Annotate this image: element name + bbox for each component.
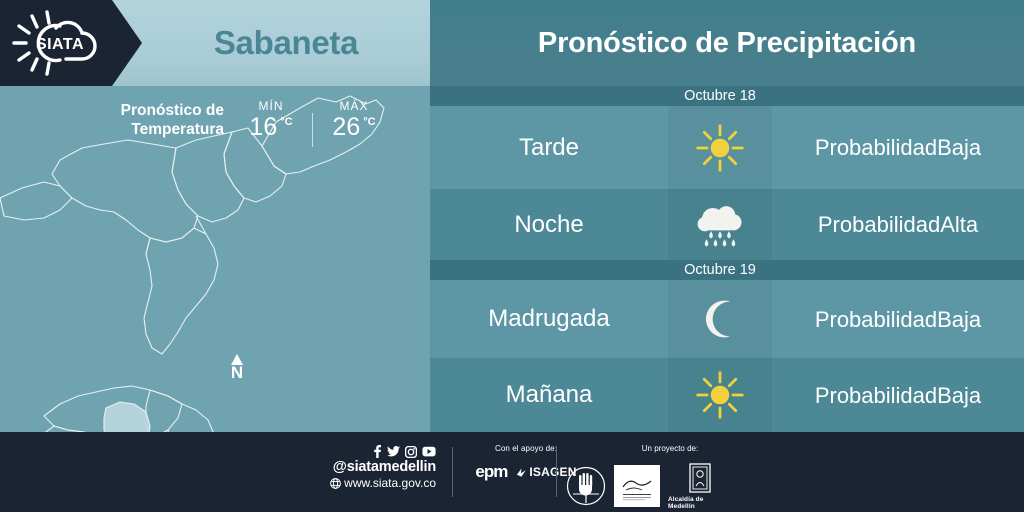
footer-divider-1: [452, 447, 453, 497]
probability-madrugada-line2: Baja: [937, 305, 981, 334]
probability-madrugada: Probabilidad Baja: [772, 280, 1024, 358]
temperature-max: MÁX 26 °C: [317, 99, 391, 141]
svg-text:SIATA: SIATA: [36, 36, 84, 53]
forecast-row-tarde[interactable]: Tarde Probabilid: [430, 106, 1024, 189]
support-caption: Con el apoyo de:: [495, 444, 557, 453]
probability-manana-line2: Baja: [937, 381, 981, 410]
probability-tarde-line1: Probabilidad: [815, 133, 937, 162]
project-logos: Alcaldía de Medellín: [566, 462, 732, 510]
temperature-divider: [312, 113, 313, 147]
support-logos: epm ISAGEN: [475, 462, 576, 482]
instagram-icon[interactable]: [405, 446, 417, 458]
north-arrow-icon: N: [224, 354, 250, 381]
temperature-max-value: 26: [332, 114, 360, 141]
website-row[interactable]: www.siata.gov.co: [330, 476, 436, 491]
sun-cloud-icon: SIATA: [8, 7, 112, 79]
date-header-1: Octubre 18: [430, 86, 1024, 106]
seal-icon: [566, 466, 606, 506]
temperature-min: MÍN 16 °C: [234, 99, 308, 141]
period-label-madrugada: Madrugada: [430, 280, 668, 358]
social-handle[interactable]: @siatamedellin: [333, 459, 436, 476]
date-header-2-label: Octubre 19: [668, 262, 772, 278]
moon-icon: [668, 280, 772, 358]
header: SIATA Sabaneta Pronóstico de Precipitaci…: [0, 0, 1024, 86]
temperature-max-caption: MÁX: [339, 99, 368, 113]
isagen-mark-icon: [516, 467, 527, 478]
period-label-noche: Noche: [430, 189, 668, 260]
temperature-label-line2: Temperatura: [72, 120, 224, 139]
alcaldia-mark-icon: [687, 462, 713, 494]
probability-tarde: Probabilidad Baja: [772, 106, 1024, 189]
social-icons: [371, 445, 436, 458]
footer-divider-2: [556, 447, 557, 497]
temperature-block: Pronóstico de Temperatura MÍN 16 °C MÁX …: [72, 99, 412, 157]
footer: @siatamedellin www.siata.gov.co Con el a…: [0, 432, 1024, 512]
forecast-table: Octubre 18 Tarde: [430, 86, 1024, 432]
website-label: www.siata.gov.co: [344, 476, 436, 491]
period-label-tarde: Tarde: [430, 106, 668, 189]
twitter-icon[interactable]: [387, 445, 400, 458]
probability-noche-line2: Alta: [940, 210, 978, 239]
alcaldia-logo: Alcaldía de Medellín: [668, 462, 732, 510]
north-letter: N: [231, 364, 243, 381]
probability-manana: Probabilidad Baja: [772, 358, 1024, 432]
temperature-label: Pronóstico de Temperatura: [72, 101, 224, 139]
facebook-icon[interactable]: [371, 445, 382, 458]
page-title: Pronóstico de Precipitación: [430, 0, 1024, 86]
probability-madrugada-line1: Probabilidad: [815, 305, 937, 334]
temperature-label-line1: Pronóstico de: [72, 101, 224, 120]
temperature-values: MÍN 16 °C MÁX 26 °C: [234, 99, 391, 147]
globe-icon: [330, 478, 341, 489]
city-title: Sabaneta: [142, 0, 430, 86]
forecast-row-madrugada[interactable]: Madrugada Probabilidad Baja: [430, 280, 1024, 358]
youtube-icon[interactable]: [422, 446, 436, 457]
project-caption: Un proyecto de:: [610, 444, 730, 453]
area-metropolitana-logo: [614, 465, 660, 507]
forecast-row-manana[interactable]: Mañana Probabili: [430, 358, 1024, 432]
probability-noche: Probabilidad Alta: [772, 189, 1024, 260]
date-header-2: Octubre 19: [430, 260, 1024, 280]
probability-manana-line1: Probabilidad: [815, 381, 937, 410]
date-header-1-label: Octubre 18: [668, 88, 772, 104]
social-block: @siatamedellin www.siata.gov.co: [300, 445, 436, 491]
alcaldia-label: Alcaldía de Medellín: [668, 496, 732, 510]
sun-icon: [668, 106, 772, 189]
rain-cloud-icon: [668, 189, 772, 260]
forecast-row-noche[interactable]: Noche: [430, 189, 1024, 260]
sun-icon: [668, 358, 772, 432]
period-label-manana: Mañana: [430, 358, 668, 432]
weather-infographic: SIATA Sabaneta Pronóstico de Precipitaci…: [0, 0, 1024, 512]
epm-logo: epm: [475, 462, 507, 482]
probability-noche-line1: Probabilidad: [818, 210, 940, 239]
temperature-min-value: 16: [249, 114, 277, 141]
temperature-max-unit: °C: [363, 116, 375, 128]
probability-tarde-line2: Baja: [937, 133, 981, 162]
map-panel: Pronóstico de Temperatura MÍN 16 °C MÁX …: [0, 86, 430, 432]
temperature-min-caption: MÍN: [259, 99, 284, 113]
temperature-min-unit: °C: [280, 116, 292, 128]
